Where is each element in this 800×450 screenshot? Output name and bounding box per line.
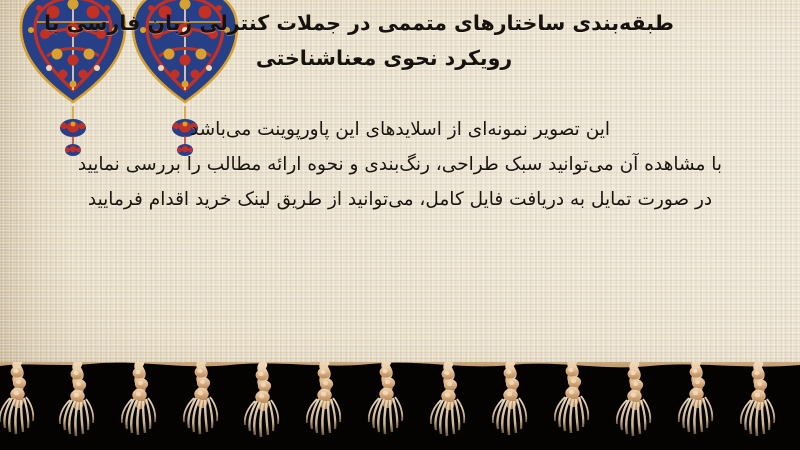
slide-title-line-1: طبقه‌بندی ساختارهای متممی در جملات کنترل… <box>14 6 784 41</box>
slide-body-line-1: این تصویر نمونه‌ای از اسلایدهای این پاور… <box>14 112 786 147</box>
fringe-top-edge <box>0 362 800 367</box>
slide-body: این تصویر نمونه‌ای از اسلایدهای این پاور… <box>14 112 786 217</box>
fringe-band <box>0 362 800 450</box>
slide-title: طبقه‌بندی ساختارهای متممی در جملات کنترل… <box>14 6 784 76</box>
slide-canvas: طبقه‌بندی ساختارهای متممی در جملات کنترل… <box>0 0 800 450</box>
tassel-row <box>0 362 774 437</box>
slide-body-line-3: در صورت تمایل به دریافت فایل کامل، می‌تو… <box>14 182 786 217</box>
slide-title-line-2: رویکرد نحوی معناشناختی <box>14 41 784 76</box>
knotted-tassel-fringe <box>0 362 800 450</box>
slide-body-line-2: با مشاهده آن می‌توانید سبک طراحی، رنگ‌بن… <box>14 147 786 182</box>
